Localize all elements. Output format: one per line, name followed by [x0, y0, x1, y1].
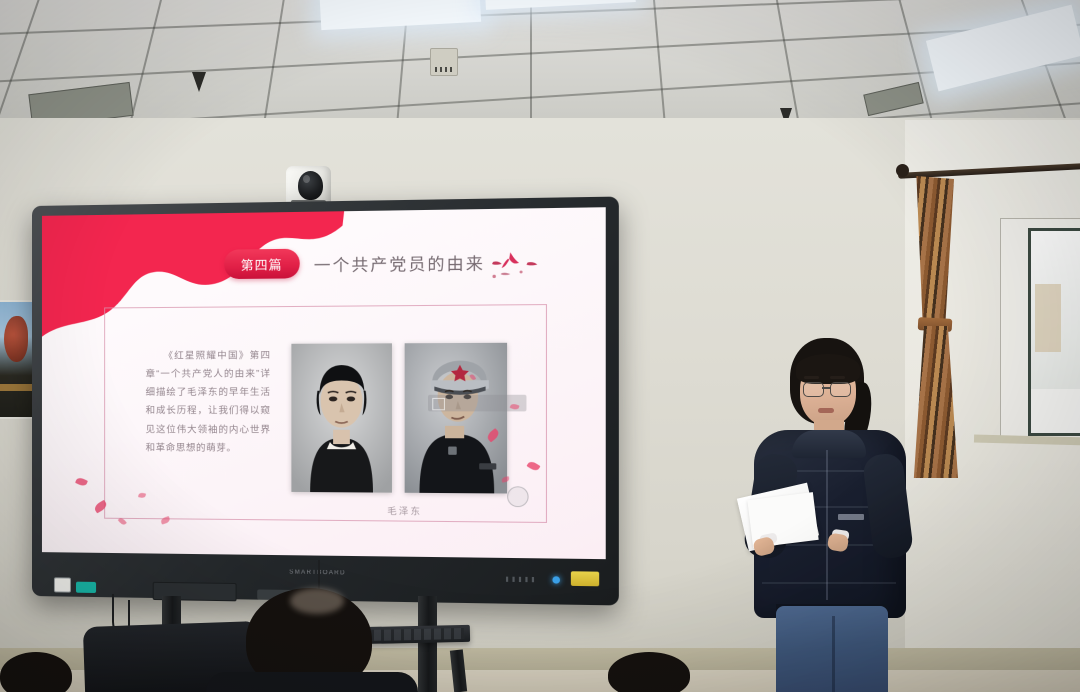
- portrait-photo-1: [291, 343, 392, 492]
- ceiling-speaker: [430, 48, 458, 76]
- slide-body-text: 《红星照耀中国》第四章“一个共产党人的由来”详细描绘了毛泽东的早年生活和成长历程…: [146, 346, 271, 457]
- poster-foliage: [4, 316, 28, 362]
- slide-watermark: [507, 486, 529, 507]
- jacket-collar: [792, 430, 866, 458]
- presenter-eyebrow: [804, 376, 819, 379]
- presentation-slide: 第四篇 一个共产党员的由来 《红星照耀中国》第四章“一个共产党人的由来”详细描: [42, 207, 606, 559]
- window-view-door: [1035, 284, 1061, 353]
- warning-sticker: [571, 571, 599, 586]
- petal-decoration: [75, 476, 88, 487]
- jacket-seam: [762, 582, 896, 584]
- jacket-logo: [838, 514, 864, 520]
- ir-sensor-icon: [506, 577, 538, 583]
- glasses-lens-icon: [830, 382, 851, 397]
- classroom-photo: 第四篇 一个共产党员的由来 《红星照耀中国》第四章“一个共产党人的由来”详细描: [0, 0, 1080, 692]
- curtain-rod-finial: [896, 164, 909, 177]
- slide-photo-group: [291, 343, 507, 494]
- interactive-display[interactable]: 第四篇 一个共产党员的由来 《红星照耀中国》第四章“一个共产党人的由来”详细描: [32, 206, 594, 596]
- presenter: [742, 338, 920, 692]
- attendee-head-highlight: [290, 588, 344, 614]
- asset-sticker-teal: [76, 582, 96, 593]
- slide-title: 一个共产党员的由来: [314, 249, 485, 276]
- power-led-icon: [552, 576, 560, 583]
- camera-lens-icon: [298, 171, 323, 200]
- photo-caption: 毛泽东: [291, 503, 520, 518]
- flying-birds-icon: [480, 248, 545, 284]
- attendee-head: [0, 652, 72, 692]
- glasses-lens-icon: [803, 382, 824, 397]
- attendee-head: [608, 652, 690, 692]
- window-glass: [1028, 228, 1080, 436]
- presenter-fringe: [796, 354, 860, 384]
- asset-sticker-white: [54, 577, 71, 592]
- display-screen[interactable]: 第四篇 一个共产党员的由来 《红星照耀中国》第四章“一个共产党人的由来”详细描: [42, 207, 606, 559]
- poster-strip: [0, 384, 36, 391]
- jacket-zipper: [826, 450, 828, 600]
- display-bezel: 第四篇 一个共产党员的由来 《红星照耀中国》第四章“一个共产党人的由来”详细描: [32, 197, 619, 606]
- presenter-mouth: [818, 408, 834, 413]
- glasses-bridge-icon: [822, 387, 831, 389]
- window-view-wall: [1031, 389, 1080, 433]
- portrait-photo-2: [405, 343, 507, 494]
- slide-section-badge: 第四篇: [224, 249, 299, 279]
- presenter-jeans: [776, 606, 888, 692]
- attendee-shoulders: [206, 672, 418, 692]
- slide-content-frame: 《红星照耀中国》第四章“一个共产党人的由来”详细描绘了毛泽东的早年生活和成长历程…: [104, 304, 547, 523]
- stand-leg-right: [418, 596, 437, 692]
- presenter-eyebrow: [830, 376, 845, 379]
- slide-title-row: 第四篇 一个共产党员的由来: [224, 246, 485, 279]
